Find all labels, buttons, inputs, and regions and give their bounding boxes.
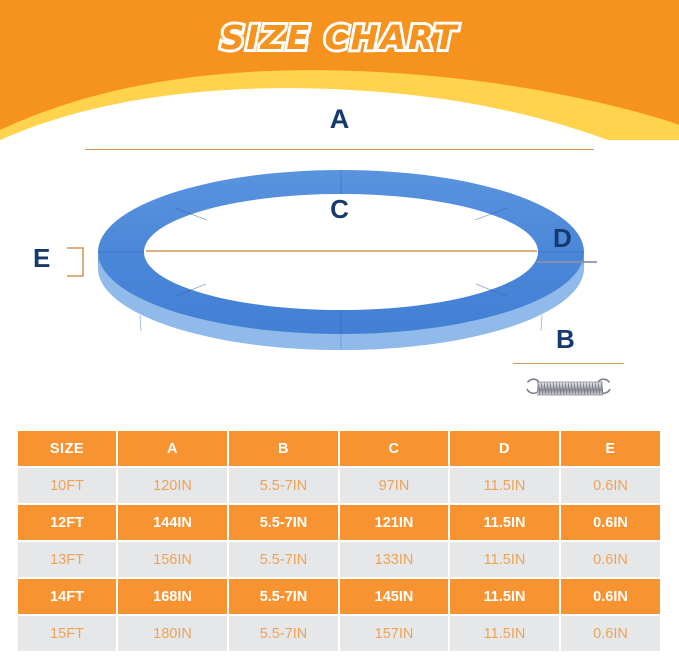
cell-d: 11.5IN [450,616,561,653]
column-header-e: E [561,431,660,468]
cell-size: 13FT [18,542,118,579]
table-row: 10FT 120IN 5.5-7IN 97IN 11.5IN 0.6IN [18,468,660,505]
measure-line-b [513,363,624,364]
cell-d: 11.5IN [450,468,561,505]
cell-size: 15FT [18,616,118,653]
trampoline-diagram: A [0,100,679,420]
cell-e: 0.6IN [561,542,660,579]
label-e: E [33,245,50,271]
cell-b: 5.5-7IN [229,579,340,616]
cell-d: 11.5IN [450,505,561,542]
table-header-row: SIZE A B C D E [18,431,660,468]
table-body: 10FT 120IN 5.5-7IN 97IN 11.5IN 0.6IN 12F… [18,468,660,653]
cell-c: 121IN [340,505,450,542]
column-header-a: A [118,431,229,468]
measure-bracket-e [67,248,83,276]
column-header-b: B [229,431,340,468]
cell-b: 5.5-7IN [229,468,340,505]
cell-a: 180IN [118,616,229,653]
cell-e: 0.6IN [561,579,660,616]
cell-size: 14FT [18,579,118,616]
label-c: C [0,196,679,222]
cell-size: 10FT [18,468,118,505]
column-header-c: C [340,431,450,468]
trampoline-pad-illustration [0,100,679,420]
cell-e: 0.6IN [561,616,660,653]
cell-c: 157IN [340,616,450,653]
cell-a: 156IN [118,542,229,579]
spring-icon [527,379,610,395]
table-row: 13FT 156IN 5.5-7IN 133IN 11.5IN 0.6IN [18,542,660,579]
cell-d: 11.5IN [450,542,561,579]
cell-e: 0.6IN [561,505,660,542]
table-row: 12FT 144IN 5.5-7IN 121IN 11.5IN 0.6IN [18,505,660,542]
cell-b: 5.5-7IN [229,505,340,542]
size-chart-table: SIZE A B C D E 10FT 120IN 5.5-7IN 97IN 1… [18,431,660,653]
cell-e: 0.6IN [561,468,660,505]
column-header-size: SIZE [18,431,118,468]
cell-c: 133IN [340,542,450,579]
label-b: B [556,326,575,352]
cell-b: 5.5-7IN [229,542,340,579]
cell-c: 97IN [340,468,450,505]
cell-c: 145IN [340,579,450,616]
label-d: D [553,225,572,251]
size-chart-page: SIZE CHART SIZE CHART A [0,0,679,666]
table-row: 15FT 180IN 5.5-7IN 157IN 11.5IN 0.6IN [18,616,660,653]
cell-size: 12FT [18,505,118,542]
cell-a: 120IN [118,468,229,505]
page-title: SIZE CHART [0,18,679,57]
table-row: 14FT 168IN 5.5-7IN 145IN 11.5IN 0.6IN [18,579,660,616]
cell-d: 11.5IN [450,579,561,616]
column-header-d: D [450,431,561,468]
cell-b: 5.5-7IN [229,616,340,653]
cell-a: 144IN [118,505,229,542]
cell-a: 168IN [118,579,229,616]
